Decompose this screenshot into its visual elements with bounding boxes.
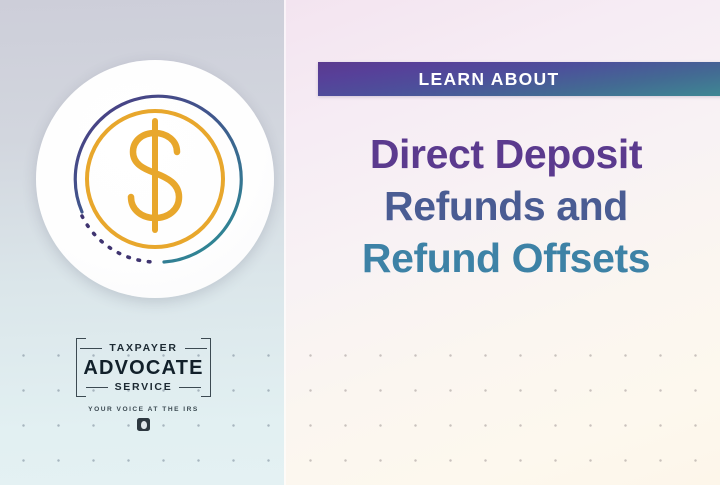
- panel-divider: [284, 0, 286, 485]
- logo-rule-left-2: [86, 387, 108, 388]
- title-line-2: Refunds and: [318, 180, 694, 232]
- left-panel: TAXPAYER ADVOCATE SERVICE YOUR VOICE AT …: [0, 0, 284, 485]
- irs-seal-emblem-icon: [137, 418, 150, 431]
- logo-line-advocate: ADVOCATE: [76, 358, 211, 378]
- right-dot-grid: [284, 330, 720, 485]
- logo-tagline: YOUR VOICE AT THE IRS: [76, 406, 211, 413]
- logo-line-taxpayer: TAXPAYER: [109, 343, 177, 354]
- logo-rule-right-2: [179, 387, 201, 388]
- logo-bracket-left: [76, 338, 86, 397]
- dollar-sign-glyph: [131, 121, 179, 230]
- learn-about-label: LEARN ABOUT: [318, 62, 660, 96]
- logo-line-service: SERVICE: [115, 382, 173, 393]
- page-title: Direct Deposit Refunds and Refund Offset…: [318, 128, 694, 284]
- dollar-coin-badge: [36, 60, 274, 298]
- title-card-graphic: TAXPAYER ADVOCATE SERVICE YOUR VOICE AT …: [0, 0, 720, 485]
- dollar-coin-icon: [36, 60, 274, 298]
- logo-frame: TAXPAYER ADVOCATE SERVICE: [76, 338, 211, 397]
- title-line-3: Refund Offsets: [318, 232, 694, 284]
- logo-line-service-row: SERVICE: [76, 381, 211, 394]
- taxpayer-advocate-service-logo: TAXPAYER ADVOCATE SERVICE YOUR VOICE AT …: [76, 338, 211, 431]
- title-line-1: Direct Deposit: [318, 128, 694, 180]
- logo-line-taxpayer-row: TAXPAYER: [76, 342, 211, 355]
- learn-about-banner: LEARN ABOUT: [318, 62, 720, 96]
- outer-arc: [75, 96, 241, 262]
- logo-bracket-right: [201, 338, 211, 397]
